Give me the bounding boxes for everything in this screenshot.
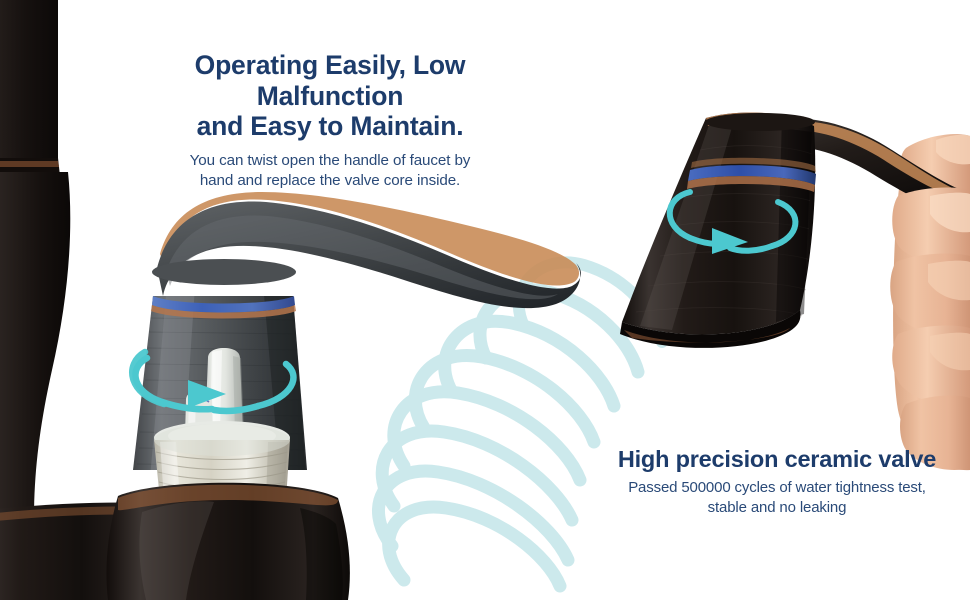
top-callout-heading: Operating Easily, Low Malfunction and Ea… [120, 50, 540, 142]
top-callout-subtext: You can twist open the handle of faucet … [120, 151, 540, 191]
top-callout-heading-line2: and Easy to Maintain. [120, 111, 540, 142]
bottom-right-sub-line1: Passed 500000 cycles of water tightness … [592, 478, 962, 498]
bottom-right-heading: High precision ceramic valve [592, 446, 962, 473]
top-callout-block: Operating Easily, Low Malfunction and Ea… [120, 50, 540, 192]
bottom-right-callout-block: High precision ceramic valve Passed 5000… [592, 446, 962, 517]
top-callout-sub-line1: You can twist open the handle of faucet … [120, 151, 540, 171]
bottom-right-subtext: Passed 500000 cycles of water tightness … [592, 478, 962, 517]
text-overlay: Operating Easily, Low Malfunction and Ea… [0, 0, 970, 600]
top-callout-sub-line2: hand and replace the valve core inside. [120, 171, 540, 191]
bottom-right-sub-line2: stable and no leaking [592, 498, 962, 518]
infographic-canvas: Operating Easily, Low Malfunction and Ea… [0, 0, 970, 600]
top-callout-heading-line1: Operating Easily, Low Malfunction [120, 50, 540, 111]
